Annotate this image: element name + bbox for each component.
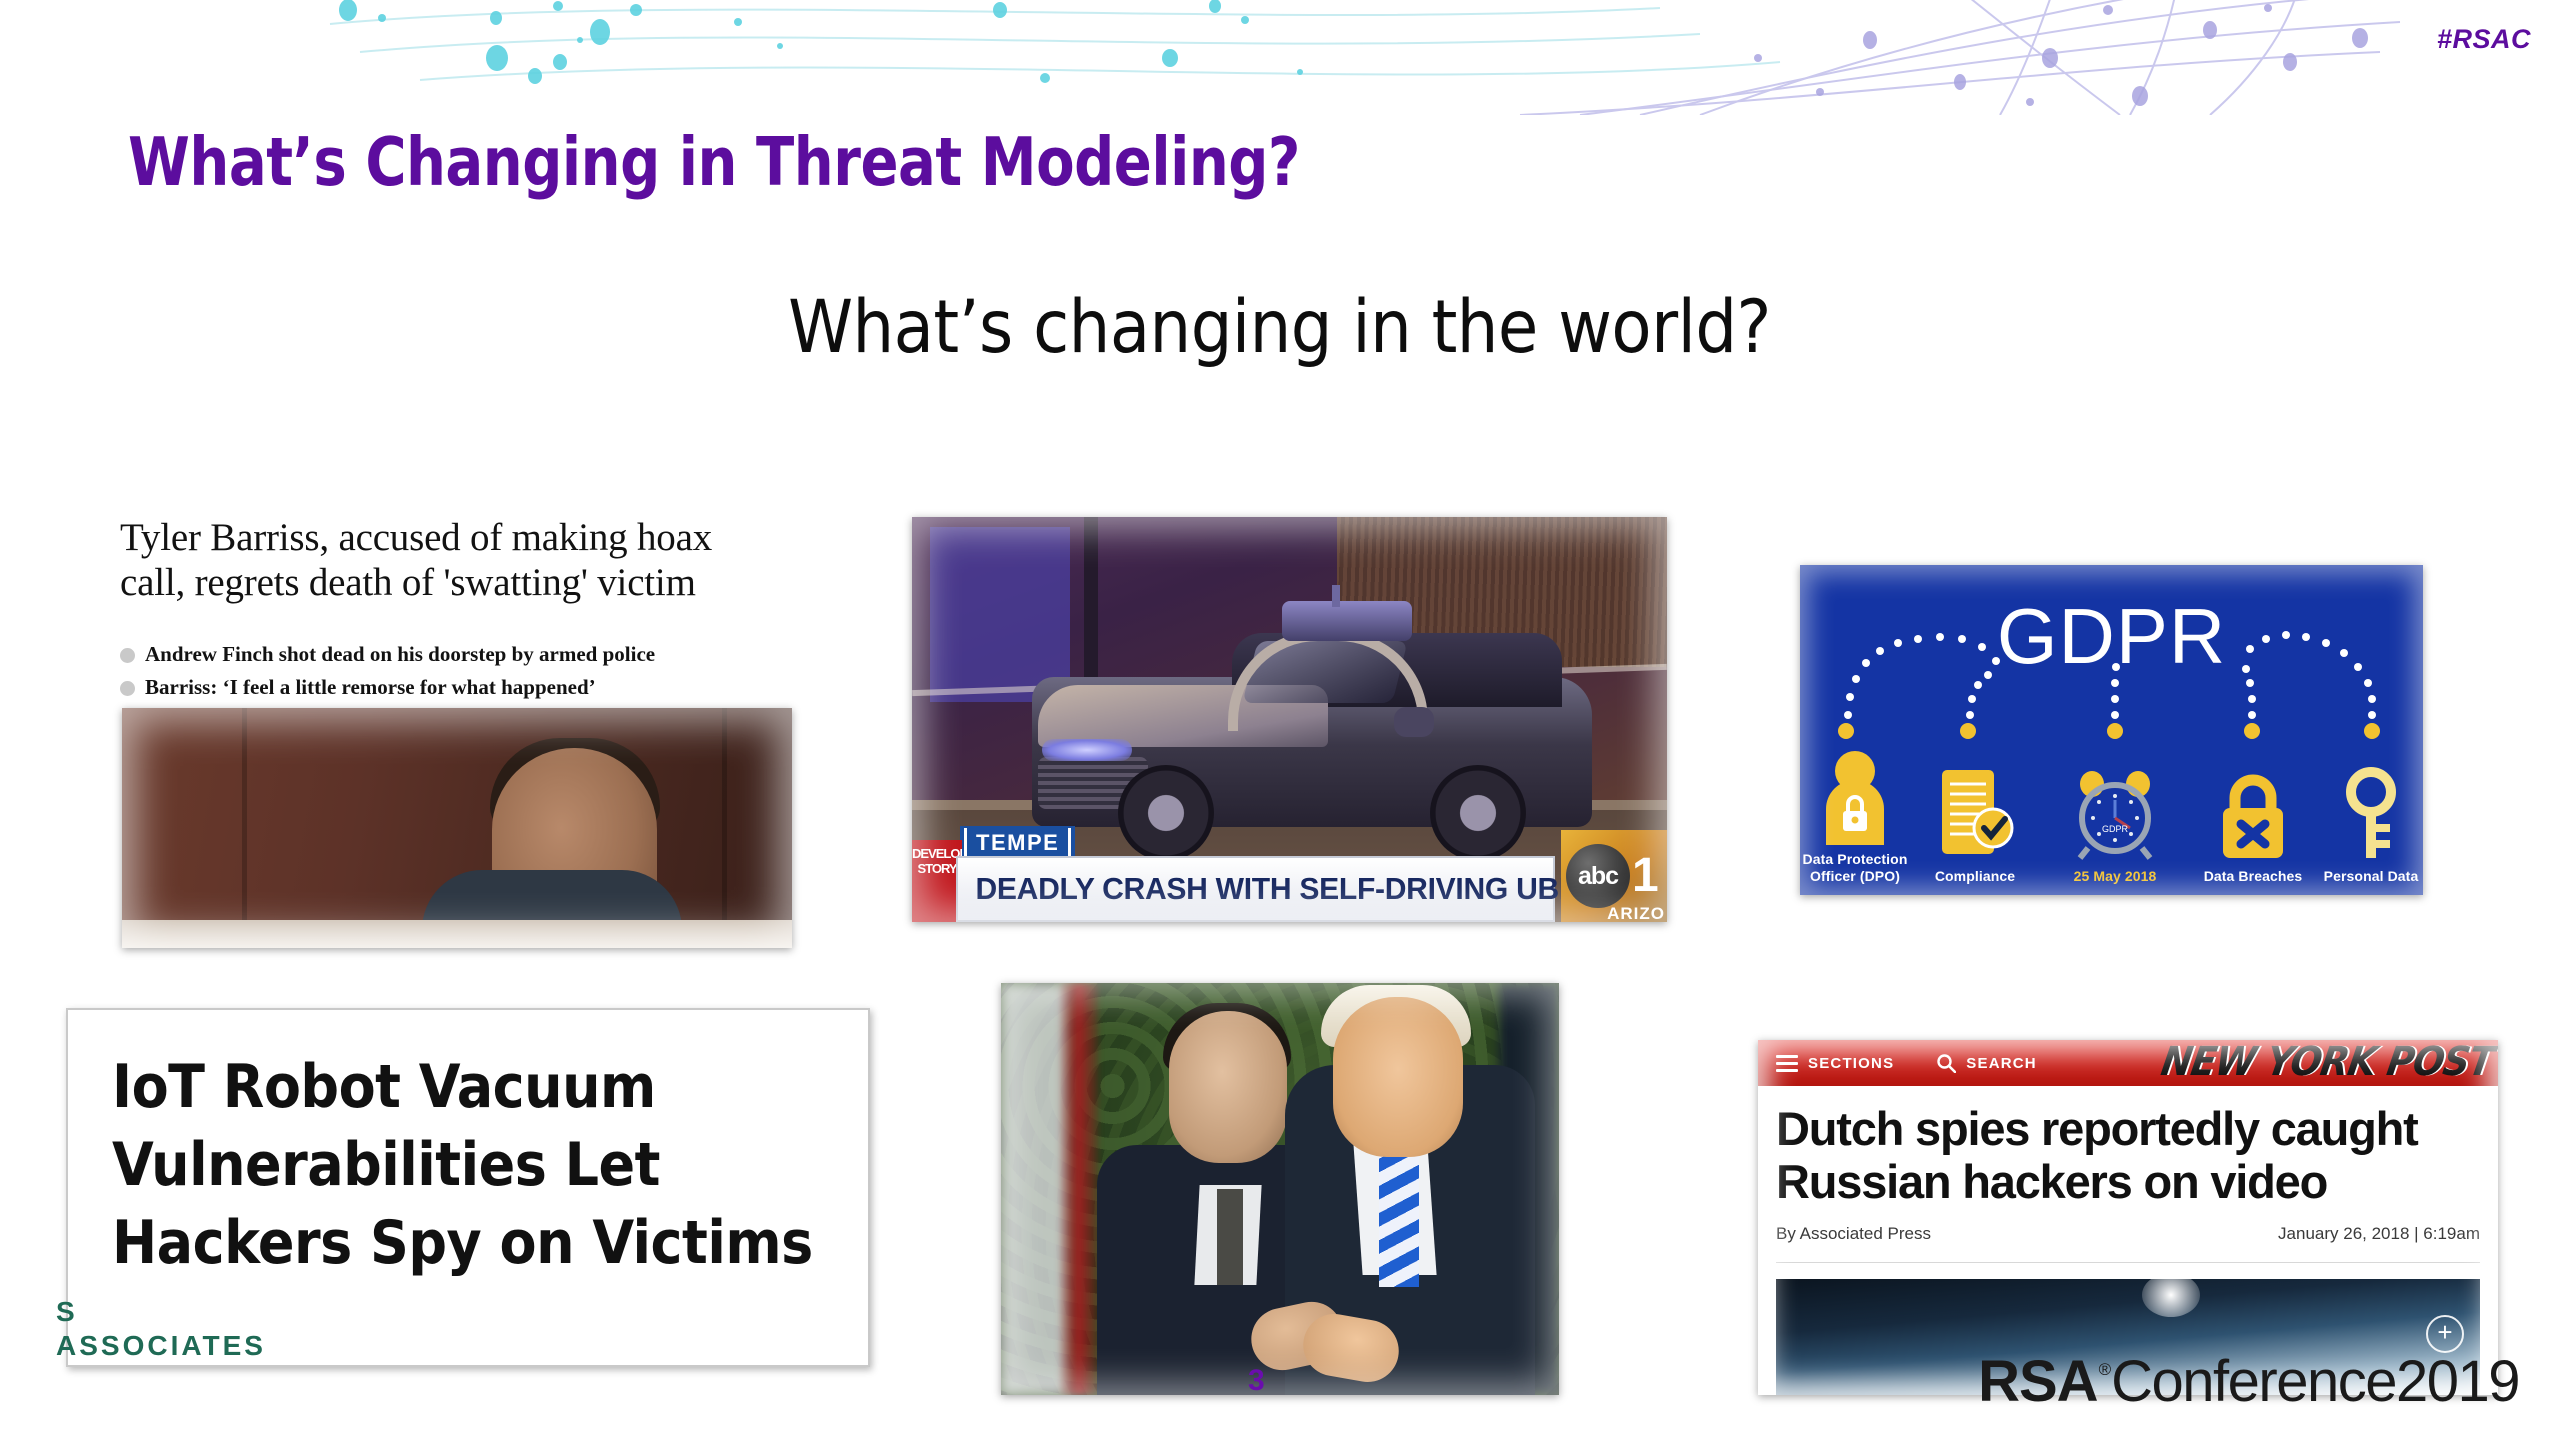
nypost-timestamp: January 26, 2018 | 6:19am	[2278, 1224, 2480, 1244]
guardian-article-clipping: Tyler Barriss, accused of making hoax ca…	[120, 515, 780, 708]
guardian-defendant-photo	[122, 708, 792, 948]
bullet-dot-icon	[120, 681, 135, 696]
nypost-masthead-logo[interactable]: NEW YORK POST	[2165, 1040, 2498, 1086]
photo-vignette	[1001, 983, 1559, 1395]
search-label: SEARCH	[1966, 1055, 2037, 1072]
iot-headline-line: IoT Robot Vacuum	[112, 1048, 848, 1126]
associates-logo: S ASSOCIATES	[56, 1330, 266, 1362]
rsa-conference-logo: RSA ® Conference2019	[1978, 1348, 2519, 1415]
nypost-article-meta: By Associated Press January 26, 2018 | 6…	[1776, 1224, 2480, 1263]
rsa-wordmark: RSA	[1978, 1348, 2097, 1415]
search-icon	[1936, 1053, 1956, 1073]
guardian-bullet-list: Andrew Finch shot dead on his doorstep b…	[120, 642, 780, 699]
sections-label[interactable]: SECTIONS	[1808, 1055, 1894, 1072]
guardian-bullet-label: Barriss: ‘I feel a little remorse for wh…	[145, 675, 596, 699]
nypost-article-clipping: SECTIONS SEARCH NEW YORK POST Dutch spie…	[1758, 1040, 2498, 1395]
iot-headline-clipping: IoT Robot Vacuum Vulnerabilities Let Hac…	[66, 1008, 870, 1367]
associates-logo-top-letter: S	[56, 1296, 78, 1328]
thumbnail-light-glow	[2142, 1273, 2200, 1317]
conference-year-label: Conference2019	[2111, 1348, 2519, 1415]
registered-trademark-icon: ®	[2099, 1360, 2112, 1380]
photo-vignette	[122, 708, 792, 948]
slide-number: 3	[1248, 1364, 1265, 1398]
iot-headline: IoT Robot Vacuum Vulnerabilities Let Hac…	[112, 1048, 848, 1282]
guardian-bullet-label: Andrew Finch shot dead on his doorstep b…	[145, 642, 655, 666]
summit-handshake-photo	[1001, 983, 1559, 1395]
search-control[interactable]: SEARCH	[1936, 1053, 2037, 1073]
photo-vignette	[1800, 565, 2423, 895]
nypost-byline: By Associated Press	[1776, 1224, 1931, 1244]
header-decoration	[0, 0, 2559, 115]
photo-vignette	[912, 517, 1667, 922]
page-title: What’s Changing in Threat Modeling?	[128, 123, 1300, 201]
list-item: Barriss: ‘I feel a little remorse for wh…	[120, 675, 780, 699]
hamburger-menu-icon[interactable]	[1776, 1055, 1798, 1072]
gdpr-infographic: GDPR	[1800, 565, 2423, 895]
associates-logo-text: ASSOCIATES	[56, 1330, 266, 1361]
slide-subtitle: What’s changing in the world?	[0, 285, 2559, 370]
bullet-dot-icon	[120, 648, 135, 663]
nypost-headline: Dutch spies reportedly caught Russian ha…	[1776, 1102, 2480, 1208]
iot-headline-line: Vulnerabilities Let	[112, 1126, 848, 1204]
list-item: Andrew Finch shot dead on his doorstep b…	[120, 642, 780, 666]
guardian-headline: Tyler Barriss, accused of making hoax ca…	[120, 515, 780, 605]
uber-crash-news-still: TEMPE DEVELOPING STORY DEADLY CRASH WITH…	[912, 517, 1667, 922]
rsac-hashtag: #RSAC	[2437, 24, 2531, 55]
iot-headline-line: Hackers Spy on Victims	[112, 1204, 848, 1282]
nypost-masthead-text: NEW YORK POST	[2158, 1040, 2498, 1085]
nypost-navigation-bar: SECTIONS SEARCH NEW YORK POST	[1758, 1040, 2498, 1086]
